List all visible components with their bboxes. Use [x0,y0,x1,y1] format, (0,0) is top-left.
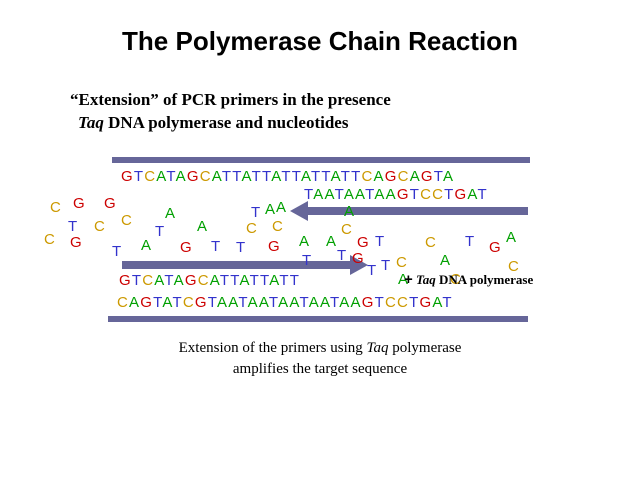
top-strand-bar [112,157,530,163]
base-T: T [409,294,419,311]
base-A: A [210,272,220,289]
base-T: T [365,186,374,203]
free-nucleotide-T: T [251,205,260,220]
slide-caption: Extension of the primers using Taq polym… [0,338,640,380]
base-T: T [330,294,339,311]
enzyme-taq-italic: Taq [416,272,436,287]
base-G: G [195,294,208,311]
base-C: C [117,294,129,311]
base-T: T [252,168,262,185]
base-A: A [374,168,385,185]
free-nucleotide-A: A [299,234,309,249]
free-nucleotide-A: A [165,206,175,221]
base-C: C [385,294,397,311]
base-G: G [419,294,432,311]
base-T: T [290,272,300,289]
base-A: A [217,294,228,311]
base-G: G [121,168,134,185]
free-nucleotide-A: A [506,230,516,245]
base-A: A [176,168,187,185]
base-A: A [212,168,222,185]
base-T: T [351,168,361,185]
base-C: C [144,168,156,185]
free-nucleotide-G: G [70,235,82,250]
base-C: C [398,168,410,185]
free-nucleotide-T: T [375,234,384,249]
base-A: A [443,168,454,185]
base-A: A [386,186,397,203]
base-T: T [250,272,260,289]
base-T: T [335,186,344,203]
caption-line-1-post: polymerase [388,340,461,356]
free-nucleotide-T: T [112,244,121,259]
subtitle-taq-italic: Taq [78,113,104,132]
base-A: A [259,294,269,311]
top-template-sequence: GTCATAGCATTATTATTATTATTCAGCAGTA [121,168,454,186]
base-G: G [187,168,200,185]
base-C: C [183,294,195,311]
base-T: T [222,168,232,185]
base-T: T [341,168,351,185]
base-C: C [362,168,374,185]
base-T: T [230,272,239,289]
base-A: A [269,272,279,289]
bottom-template-sequence: CAGTATCGTAATAATAATAATAAGTCCTGAT [117,294,453,312]
free-nucleotide-C: C [50,200,61,215]
base-T: T [232,168,241,185]
free-nucleotide-A: A [265,202,275,217]
base-T: T [260,272,269,289]
base-C: C [142,272,154,289]
base-A: A [313,186,324,203]
base-A: A [228,294,238,311]
base-T: T [238,294,247,311]
caption-line-1-pre: Extension of the primers using [179,340,367,356]
base-G: G [397,186,410,203]
free-nucleotide-C: C [341,222,352,237]
base-G: G [140,294,153,311]
base-A: A [240,272,250,289]
free-nucleotide-C: C [94,219,105,234]
base-C: C [200,168,212,185]
base-A: A [320,294,330,311]
free-nucleotide-G: G [73,196,85,211]
base-T: T [292,168,301,185]
base-A: A [374,186,385,203]
base-T: T [172,294,182,311]
free-nucleotide-T: T [236,240,245,255]
upper-extension-arrow-shaft [306,207,528,215]
bottom-strand-bar [108,316,528,322]
base-A: A [174,272,185,289]
free-nucleotide-C: C [121,213,132,228]
base-T: T [164,272,173,289]
free-nucleotide-G: G [489,240,501,255]
free-nucleotide-T: T [302,253,311,268]
base-T: T [134,168,144,185]
base-A: A [331,168,341,185]
base-G: G [421,168,434,185]
base-C: C [420,186,432,203]
base-G: G [362,294,375,311]
base-A: A [301,168,311,185]
free-nucleotide-C: C [246,221,257,236]
free-nucleotide-G: G [357,235,369,250]
caption-line-1: Extension of the primers using Taq polym… [0,338,640,359]
free-nucleotide-T: T [155,224,164,239]
base-T: T [220,272,230,289]
base-G: G [385,168,398,185]
free-nucleotide-T: T [68,219,77,234]
base-C: C [432,186,444,203]
base-A: A [351,294,362,311]
base-A: A [309,294,320,311]
base-A: A [248,294,259,311]
taq-polymerase-label: + Taq DNA polymerase [404,271,533,288]
free-nucleotide-C: C [272,219,283,234]
page-title: The Polymerase Chain Reaction [0,26,640,57]
subtitle-line-2-rest: DNA polymerase and nucleotides [104,113,349,132]
base-T: T [442,294,452,311]
base-A: A [339,294,350,311]
free-nucleotide-C: C [425,235,436,250]
free-nucleotide-T: T [211,239,220,254]
base-T: T [262,168,271,185]
base-G: G [455,186,468,203]
base-T: T [375,294,385,311]
subtitle-line-2: Taq DNA polymerase and nucleotides [70,111,550,134]
pcr-extension-slide: The Polymerase Chain Reaction “Extension… [0,0,640,480]
free-nucleotide-A: A [197,219,207,234]
bottom-primer-extension-sequence: GTCATAGCATTATTATT [119,272,300,290]
subtitle-block: “Extension” of PCR primers in the presen… [70,88,550,134]
plus-sign: + [404,271,413,288]
free-nucleotide-T: T [367,263,376,278]
free-nucleotide-T: T [465,234,474,249]
enzyme-name-rest: DNA polymerase [436,272,534,287]
free-nucleotide-A: A [276,200,286,215]
subtitle-line-1: “Extension” of PCR primers in the presen… [70,88,550,111]
base-T: T [279,272,289,289]
base-T: T [269,294,278,311]
base-A: A [432,294,442,311]
base-A: A [324,186,334,203]
base-A: A [162,294,172,311]
base-A: A [129,294,140,311]
free-nucleotide-A: A [344,204,354,219]
free-nucleotide-A: A [141,238,151,253]
base-G: G [185,272,198,289]
free-nucleotide-A: A [440,253,450,268]
base-C: C [397,294,409,311]
lower-extension-arrow-shaft [122,261,350,269]
base-T: T [321,168,330,185]
base-T: T [132,272,142,289]
free-nucleotide-A: A [326,234,336,249]
base-T: T [208,294,217,311]
base-T: T [410,186,420,203]
caption-taq-italic: Taq [367,340,389,356]
base-A: A [410,168,421,185]
upper-extension-arrow-head [290,201,308,221]
base-A: A [467,186,477,203]
base-A: A [289,294,299,311]
free-nucleotide-G: G [268,239,280,254]
top-primer-extension-sequence: TAATAATAAGTCCTGAT [304,186,488,204]
base-T: T [444,186,454,203]
base-G: G [119,272,132,289]
free-nucleotide-G: G [180,240,192,255]
base-T: T [478,186,488,203]
base-C: C [198,272,210,289]
free-nucleotide-G: G [104,196,116,211]
base-A: A [278,294,289,311]
free-nucleotide-T: T [337,248,346,263]
base-A: A [242,168,252,185]
base-T: T [153,294,162,311]
base-T: T [299,294,308,311]
base-T: T [434,168,443,185]
free-nucleotide-C: C [396,255,407,270]
base-T: T [311,168,321,185]
caption-line-2: amplifies the target sequence [0,359,640,380]
base-A: A [271,168,281,185]
base-A: A [154,272,164,289]
free-nucleotide-T: T [381,258,390,273]
free-nucleotide-C: C [44,232,55,247]
base-A: A [344,186,355,203]
base-A: A [156,168,166,185]
free-nucleotide-G: G [352,251,364,266]
base-T: T [281,168,291,185]
base-T: T [166,168,175,185]
base-A: A [355,186,365,203]
